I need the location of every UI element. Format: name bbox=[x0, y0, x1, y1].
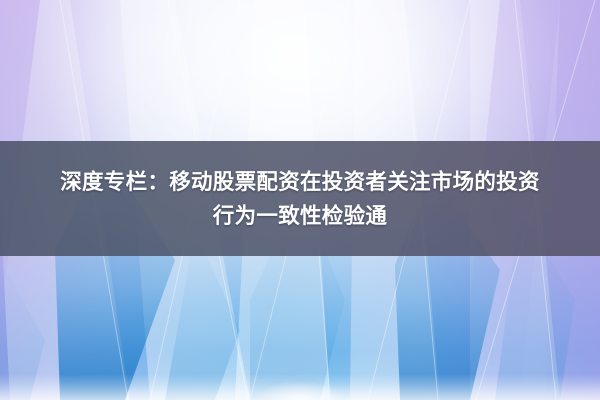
caption-line-1: 深度专栏：移动股票配资在投资者关注市场的投资 bbox=[60, 165, 540, 199]
caption-text-block: 深度专栏：移动股票配资在投资者关注市场的投资 行为一致性检验通 bbox=[0, 141, 600, 256]
caption-line-2: 行为一致性检验通 bbox=[213, 199, 387, 233]
bottom-center-glow bbox=[250, 366, 350, 400]
banner-image: 深度专栏：移动股票配资在投资者关注市场的投资 行为一致性检验通 bbox=[0, 0, 600, 400]
